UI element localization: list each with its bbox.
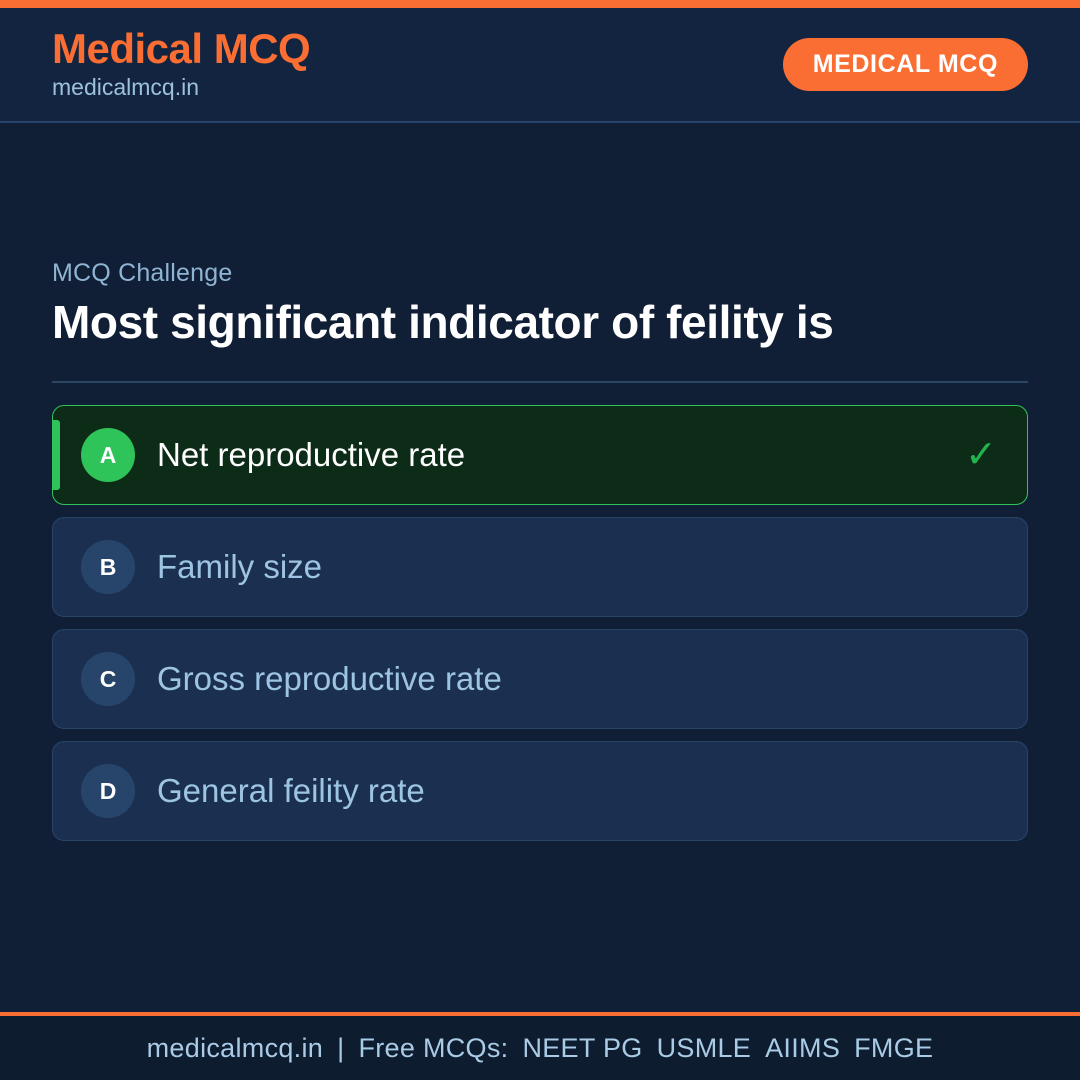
check-icon: ✓ [961, 436, 1001, 474]
eyebrow-label: MCQ Challenge [52, 259, 1028, 288]
footer-site[interactable]: medicalmcq.in [147, 1033, 323, 1063]
question-divider [52, 381, 1028, 383]
brand-subtitle: medicalmcq.in [52, 73, 310, 102]
options-list: A Net reproductive rate ✓ B Family size … [52, 405, 1028, 841]
top-accent-bar [0, 0, 1080, 8]
brand-title: Medical MCQ [52, 27, 310, 71]
option-label-c: Gross reproductive rate [157, 661, 961, 697]
page-footer: medicalmcq.in|Free MCQs:NEET PGUSMLEAIIM… [0, 1012, 1080, 1080]
page-body: MCQ Challenge Most significant indicator… [0, 123, 1080, 1012]
footer-exam-usmle[interactable]: USMLE [657, 1033, 752, 1063]
footer-exam-neetpg[interactable]: NEET PG [522, 1033, 642, 1063]
brand-block: Medical MCQ medicalmcq.in [52, 27, 310, 102]
option-letter-badge-c: C [81, 652, 135, 706]
option-letter-badge-a: A [81, 428, 135, 482]
page-header: Medical MCQ medicalmcq.in MEDICAL MCQ [0, 8, 1080, 123]
option-row-a[interactable]: A Net reproductive rate ✓ [52, 405, 1028, 505]
option-letter-badge-b: B [81, 540, 135, 594]
question-block: MCQ Challenge Most significant indicator… [52, 259, 1028, 841]
option-letter-badge-d: D [81, 764, 135, 818]
option-label-a: Net reproductive rate [157, 437, 961, 473]
footer-exam-fmge[interactable]: FMGE [854, 1033, 933, 1063]
option-label-b: Family size [157, 549, 961, 585]
footer-exam-aiims[interactable]: AIIMS [765, 1033, 840, 1063]
footer-exams-label: Free MCQs: [358, 1033, 508, 1063]
option-label-d: General feility rate [157, 773, 961, 809]
option-row-b[interactable]: B Family size [52, 517, 1028, 617]
page-title: Most significant indicator of feility is [52, 296, 912, 349]
option-row-c[interactable]: C Gross reproductive rate [52, 629, 1028, 729]
mcq-card: Medical MCQ medicalmcq.in MEDICAL MCQ MC… [0, 0, 1080, 1080]
option-row-d[interactable]: D General feility rate [52, 741, 1028, 841]
footer-text: medicalmcq.in|Free MCQs:NEET PGUSMLEAIIM… [147, 1033, 934, 1064]
correct-accent-bar [53, 420, 60, 490]
header-badge[interactable]: MEDICAL MCQ [783, 38, 1028, 91]
footer-separator: | [323, 1033, 358, 1063]
footer-exams-list: NEET PGUSMLEAIIMSFMGE [508, 1033, 933, 1063]
